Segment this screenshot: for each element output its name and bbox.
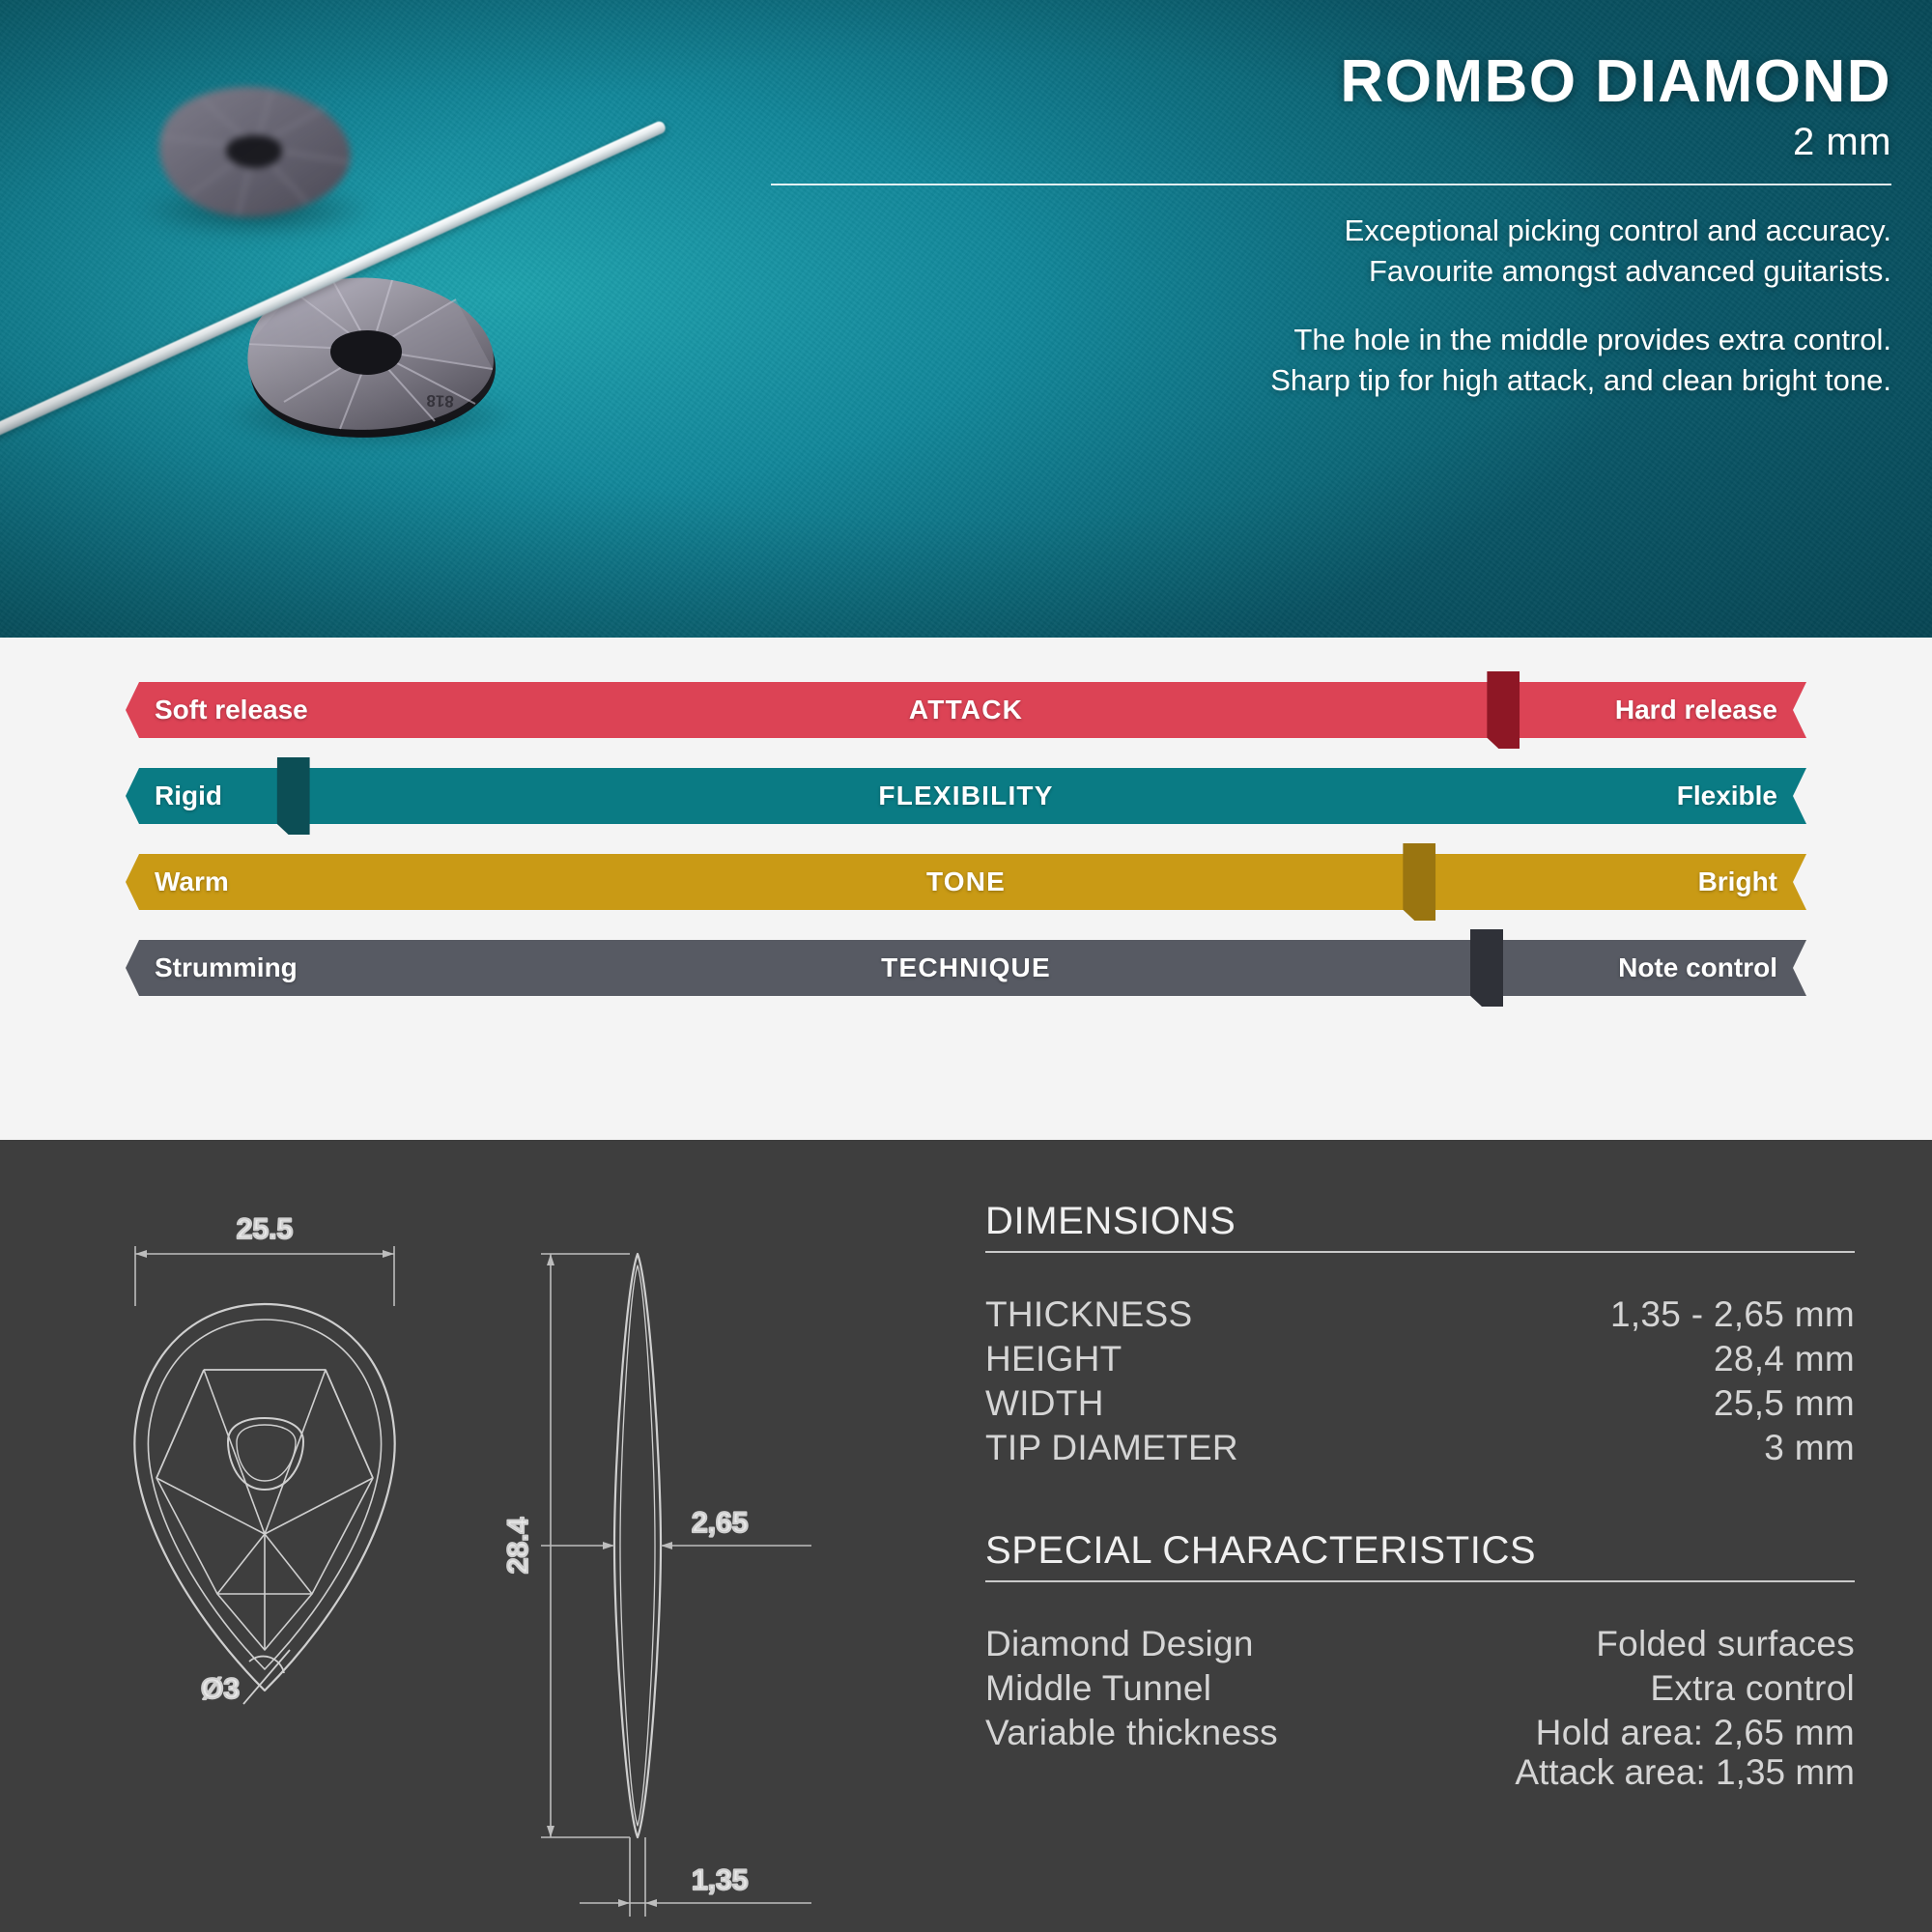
hero-paragraph-1: Exceptional picking control and accuracy… (771, 211, 1891, 291)
slider-flexibility-track[interactable]: Rigid FLEXIBILITY Flexible (126, 768, 1806, 824)
special-characteristics-row-label: Diamond Design (985, 1625, 1254, 1663)
dimensions-row: WIDTH 25,5 mm (985, 1384, 1855, 1423)
dimensions-row-value: 28,4 mm (1714, 1340, 1855, 1378)
tip-diameter-value: Ø3 (201, 1673, 240, 1705)
max-thickness-value: 2,65 (692, 1507, 748, 1539)
dimensions-row-label: TIP DIAMETER (985, 1429, 1238, 1467)
product-thickness-subtitle: 2 mm (771, 121, 1891, 164)
slider-technique[interactable]: Strumming TECHNIQUE Note control (126, 940, 1806, 996)
slider-attack-left-label: Soft release (155, 695, 308, 725)
dimensions-row-value: 3 mm (1764, 1429, 1855, 1467)
special-characteristics-row-label: Variable thickness (985, 1714, 1278, 1752)
slider-tone-center-label: TONE (926, 867, 1006, 897)
specifications-section: 25.5 (0, 1140, 1932, 1932)
slider-attack-right-label: Hard release (1615, 695, 1777, 725)
hero-paragraph-2: The hole in the middle provides extra co… (771, 320, 1891, 400)
front-width-dimension (135, 1246, 394, 1306)
slider-tone-left-label: Warm (155, 867, 229, 897)
section-gap (985, 1467, 1855, 1529)
slider-attack-track[interactable]: Soft release ATTACK Hard release (126, 682, 1806, 738)
front-width-value: 25.5 (237, 1213, 293, 1245)
slider-flexibility-marker[interactable] (277, 757, 310, 835)
slider-attack-center-label: ATTACK (909, 695, 1023, 725)
slider-technique-right-label: Note control (1618, 952, 1777, 983)
dimensions-heading: DIMENSIONS (985, 1200, 1855, 1243)
technical-drawing-svg: 25.5 (0, 1140, 966, 1932)
hero-paragraph-1-line-2: Favourite amongst advanced guitarists. (771, 251, 1891, 292)
dimensions-row: THICKNESS 1,35 - 2,65 mm (985, 1295, 1855, 1334)
tip-thickness-value: 1,35 (692, 1864, 748, 1896)
slider-technique-center-label: TECHNIQUE (881, 952, 1051, 983)
slider-technique-track[interactable]: Strumming TECHNIQUE Note control (126, 940, 1806, 996)
middle-tunnel-hole (228, 1418, 303, 1490)
infographic-page: 818 ROMBO DIAMOND 2 mm Exceptional picki… (0, 0, 1932, 1932)
special-characteristics-extra-value: Attack area: 1,35 mm (985, 1752, 1855, 1792)
hero-divider (771, 184, 1891, 185)
dimensions-row: TIP DIAMETER 3 mm (985, 1429, 1855, 1467)
special-characteristics-row-value: Folded surfaces (1596, 1625, 1855, 1663)
special-characteristics-divider (985, 1580, 1855, 1582)
slider-attack[interactable]: Soft release ATTACK Hard release (126, 682, 1806, 738)
slider-technique-marker[interactable] (1470, 929, 1503, 1007)
characteristics-sliders-section: Soft release ATTACK Hard release Rigid F… (0, 638, 1932, 1140)
slider-tone[interactable]: Warm TONE Bright (126, 854, 1806, 910)
max-thickness-dimension (541, 1542, 811, 1549)
dimensions-row: HEIGHT 28,4 mm (985, 1340, 1855, 1378)
dimensions-divider (985, 1251, 1855, 1253)
pick-facets (156, 1370, 373, 1650)
side-profile-inner (620, 1265, 655, 1826)
slider-attack-marker[interactable] (1487, 671, 1520, 749)
dimensions-row-label: WIDTH (985, 1384, 1104, 1423)
dimensions-row-value: 1,35 - 2,65 mm (1610, 1295, 1855, 1334)
slider-tone-marker[interactable] (1403, 843, 1435, 921)
side-height-value: 28.4 (502, 1517, 534, 1574)
side-profile-outer (614, 1254, 661, 1837)
hero-paragraph-1-line-1: Exceptional picking control and accuracy… (771, 211, 1891, 251)
hero-paragraph-2-line-2: Sharp tip for high attack, and clean bri… (771, 360, 1891, 401)
slider-flexibility-left-label: Rigid (155, 781, 222, 811)
hero-paragraph-2-line-1: The hole in the middle provides extra co… (771, 320, 1891, 360)
special-characteristics-row: Diamond Design Folded surfaces (985, 1625, 1855, 1663)
special-characteristics-row: Middle Tunnel Extra control (985, 1669, 1855, 1708)
dimensions-row-value: 25,5 mm (1714, 1384, 1855, 1423)
hero-text-block: ROMBO DIAMOND 2 mm Exceptional picking c… (771, 50, 1891, 400)
hero-section: 818 ROMBO DIAMOND 2 mm Exceptional picki… (0, 0, 1932, 638)
slider-technique-left-label: Strumming (155, 952, 298, 983)
special-characteristics-row: Variable thickness Hold area: 2,65 mm (985, 1714, 1855, 1752)
special-characteristics-heading: SPECIAL CHARACTERISTICS (985, 1529, 1855, 1573)
special-characteristics-row-value: Hold area: 2,65 mm (1536, 1714, 1855, 1752)
technical-drawings: 25.5 (0, 1140, 966, 1932)
product-title: ROMBO DIAMOND (771, 50, 1891, 113)
slider-tone-right-label: Bright (1698, 867, 1777, 897)
slider-tone-track[interactable]: Warm TONE Bright (126, 854, 1806, 910)
spec-info-column: DIMENSIONS THICKNESS 1,35 - 2,65 mm HEIG… (985, 1200, 1855, 1792)
slider-flexibility-right-label: Flexible (1677, 781, 1777, 811)
special-characteristics-row-value: Extra control (1650, 1669, 1855, 1708)
slider-flexibility-center-label: FLEXIBILITY (878, 781, 1053, 811)
dimensions-row-label: HEIGHT (985, 1340, 1122, 1378)
special-characteristics-row-label: Middle Tunnel (985, 1669, 1211, 1708)
dimensions-row-label: THICKNESS (985, 1295, 1192, 1334)
slider-flexibility[interactable]: Rigid FLEXIBILITY Flexible (126, 768, 1806, 824)
